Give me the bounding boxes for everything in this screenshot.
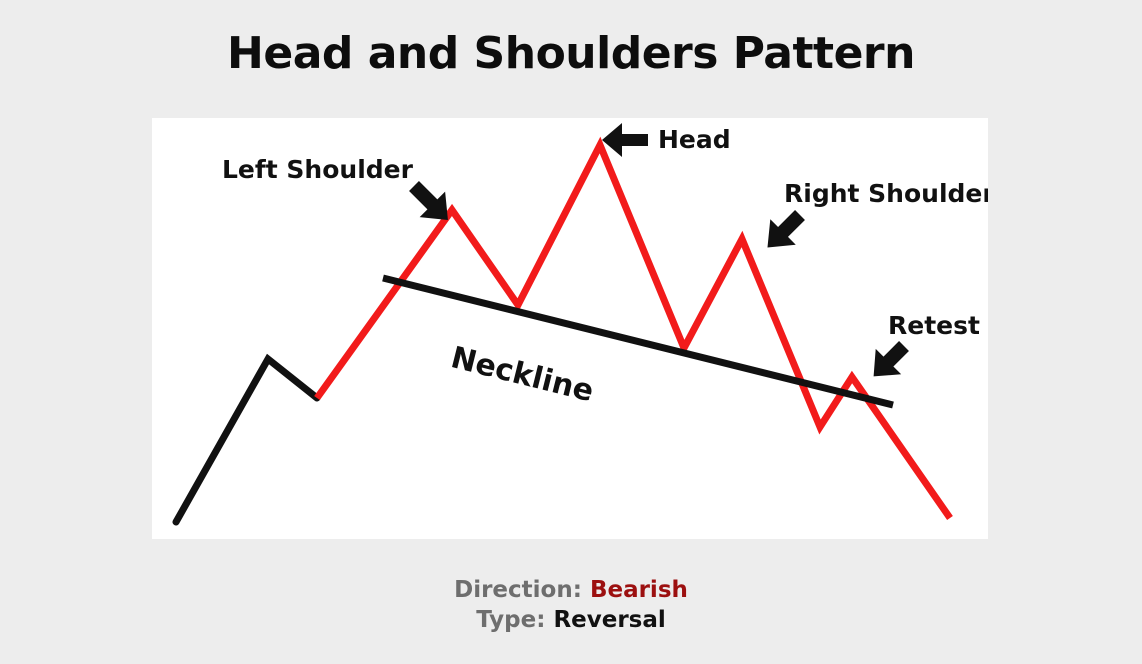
neckline-label: Neckline	[447, 340, 597, 409]
head-label: Head	[658, 125, 731, 154]
arrow-left-icon	[602, 123, 648, 157]
type-value: Reversal	[553, 607, 665, 633]
arrow-down-left-icon-retest	[861, 333, 917, 389]
direction-row: Direction: Bearish	[0, 575, 1142, 605]
head-and-shoulders-chart: Left Shoulder Head Right Shoulder Retest…	[152, 118, 988, 539]
left-shoulder-label: Left Shoulder	[222, 155, 414, 184]
arrow-down-left-icon	[755, 202, 813, 260]
direction-label: Direction:	[454, 577, 582, 603]
type-row: Type: Reversal	[0, 605, 1142, 635]
footer-info: Direction: Bearish Type: Reversal	[0, 575, 1142, 635]
page-title: Head and Shoulders Pattern	[0, 28, 1142, 79]
direction-value: Bearish	[590, 577, 688, 603]
retest-label: Retest	[888, 311, 980, 340]
type-label: Type:	[476, 607, 545, 633]
right-shoulder-label: Right Shoulder	[784, 179, 988, 208]
infographic-page: Head and Shoulders Pattern Left Shoulder…	[0, 0, 1142, 664]
chart-panel: Left Shoulder Head Right Shoulder Retest…	[152, 118, 988, 539]
prior-trend-line	[176, 359, 317, 522]
